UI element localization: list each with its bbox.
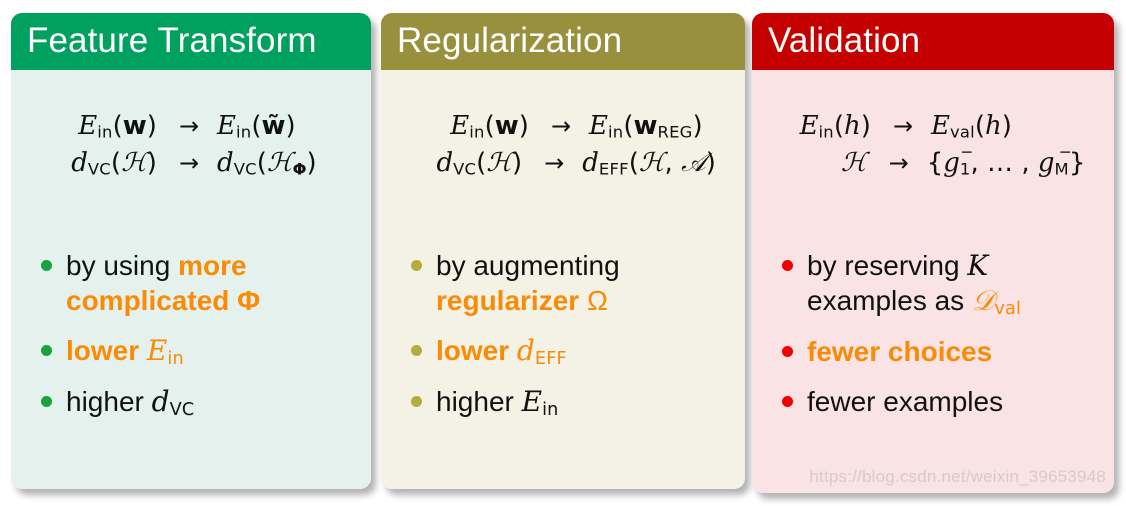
list-item-label: fewer examples: [807, 384, 1100, 419]
bullet-dot-icon: [411, 345, 422, 356]
bullet-dot-icon: [782, 346, 793, 357]
list-item-label: lower dEFF: [436, 333, 731, 370]
slide-root: Feature Transform Ein(w) → Ein(w̃) dVC(ℋ…: [0, 0, 1126, 506]
bullet-dot-icon: [411, 260, 422, 271]
formula-arrow-icon: →: [533, 109, 589, 143]
watermark-text: https://blog.csdn.net/weixin_39653948: [809, 467, 1106, 487]
formula-lhs: Ein(h): [785, 108, 875, 145]
formula-rhs: {g1−, … , gM−}: [927, 145, 1086, 182]
formula-lhs: dVC(ℋ): [45, 145, 161, 182]
panel-validation: Validation Ein(h) → Eval(h) ℋ → {g1−, … …: [752, 13, 1114, 493]
formula-row: Ein(w) → Ein(wREG): [381, 108, 745, 145]
list-item-label: lower Ein: [66, 333, 357, 370]
panel-body-feature-transform: Ein(w) → Ein(w̃) dVC(ℋ) → dVC(ℋΦ) by usi…: [11, 70, 371, 489]
bullet-dot-icon: [41, 396, 52, 407]
list-item-label: by reserving K examples as 𝒟val: [807, 248, 1100, 320]
list-item: lower Ein: [41, 333, 357, 370]
formula-rhs: Ein(w̃): [217, 108, 337, 145]
panel-title-regularization: Regularization: [381, 13, 745, 70]
list-item-label: by using more complicated Φ: [66, 248, 357, 319]
list-item: by reserving K examples as 𝒟val: [782, 248, 1100, 320]
formula-rhs: Ein(wREG): [589, 108, 709, 145]
formula-block-regularization: Ein(w) → Ein(wREG) dVC(ℋ) → dEFF(ℋ, 𝒜): [381, 108, 745, 182]
formula-arrow-icon: →: [161, 146, 217, 180]
formula-rhs: dVC(ℋΦ): [217, 145, 337, 182]
bullet-dot-icon: [41, 260, 52, 271]
formula-rhs: Eval(h): [931, 108, 1081, 145]
panel-regularization: Regularization Ein(w) → Ein(wREG) dVC(ℋ)…: [381, 13, 745, 489]
formula-row: Ein(w) → Ein(w̃): [11, 108, 371, 145]
formula-lhs: ℋ: [781, 145, 871, 182]
bullet-list-validation: by reserving K examples as 𝒟val fewer ch…: [752, 248, 1114, 433]
formula-row: dVC(ℋ) → dVC(ℋΦ): [11, 145, 371, 182]
bullet-list-feature-transform: by using more complicated Φ lower Ein hi…: [11, 248, 371, 435]
panel-body-regularization: Ein(w) → Ein(wREG) dVC(ℋ) → dEFF(ℋ, 𝒜) b…: [381, 70, 745, 489]
panel-title-feature-transform: Feature Transform: [11, 13, 371, 70]
formula-lhs: Ein(w): [417, 108, 533, 145]
list-item: fewer choices: [782, 334, 1100, 369]
bullet-dot-icon: [41, 345, 52, 356]
formula-rhs: dEFF(ℋ, 𝒜): [582, 145, 716, 182]
bullet-dot-icon: [782, 396, 793, 407]
bullet-dot-icon: [411, 396, 422, 407]
bullet-list-regularization: by augmenting regularizer Ω lower dEFF h…: [381, 248, 745, 435]
panel-body-validation: Ein(h) → Eval(h) ℋ → {g1−, … , gM−} by r…: [752, 70, 1114, 493]
list-item: higher dVC: [41, 384, 357, 421]
formula-block-validation: Ein(h) → Eval(h) ℋ → {g1−, … , gM−}: [752, 108, 1114, 182]
formula-block-feature-transform: Ein(w) → Ein(w̃) dVC(ℋ) → dVC(ℋΦ): [11, 108, 371, 182]
bullet-dot-icon: [782, 260, 793, 271]
panel-title-validation: Validation: [752, 13, 1114, 70]
formula-row: ℋ → {g1−, … , gM−}: [752, 145, 1114, 182]
list-item: by using more complicated Φ: [41, 248, 357, 319]
formula-lhs: dVC(ℋ): [410, 145, 526, 182]
formula-arrow-icon: →: [875, 109, 931, 143]
list-item: by augmenting regularizer Ω: [411, 248, 731, 319]
list-item: lower dEFF: [411, 333, 731, 370]
formula-lhs: Ein(w): [45, 108, 161, 145]
panel-feature-transform: Feature Transform Ein(w) → Ein(w̃) dVC(ℋ…: [11, 13, 371, 489]
list-item: fewer examples: [782, 384, 1100, 419]
formula-arrow-icon: →: [871, 146, 927, 180]
formula-arrow-icon: →: [526, 146, 582, 180]
formula-arrow-icon: →: [161, 109, 217, 143]
list-item: higher Ein: [411, 384, 731, 421]
list-item-label: fewer choices: [807, 334, 1100, 369]
list-item-label: higher dVC: [66, 384, 357, 421]
list-item-label: by augmenting regularizer Ω: [436, 248, 731, 319]
formula-row: Ein(h) → Eval(h): [752, 108, 1114, 145]
list-item-label: higher Ein: [436, 384, 731, 421]
formula-row: dVC(ℋ) → dEFF(ℋ, 𝒜): [381, 145, 745, 182]
